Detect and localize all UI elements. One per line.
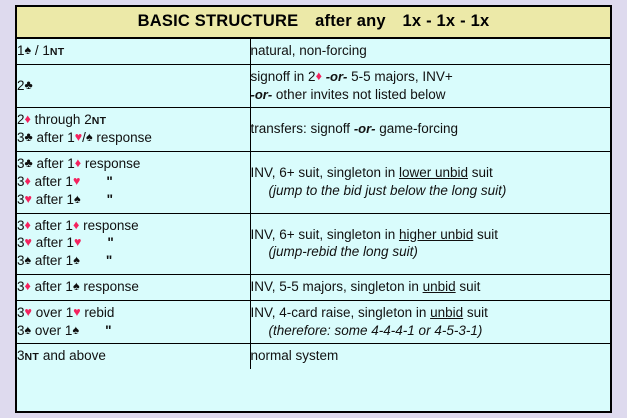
underlined-term: unbid (430, 305, 463, 320)
text-run: 3 (17, 218, 25, 233)
ditto-mark: " (80, 174, 112, 189)
heart-suit-icon: ♥ (25, 235, 32, 249)
bid-line: 3♥ after 1♠" (17, 191, 250, 209)
notrump-label: NT (92, 115, 107, 127)
text-run: 3 (17, 253, 25, 268)
underlined-term: lower unbid (399, 165, 468, 180)
meaning-cell: INV, 6+ suit, singleton in lower unbid s… (250, 152, 610, 213)
bid-line: 3♠ over 1♠" (17, 322, 250, 340)
text-run: 3 (17, 348, 25, 363)
meaning-cell: transfers: signoff -or- game-forcing (250, 108, 610, 152)
bid-line: 2♣ (17, 77, 250, 95)
meaning-line: normal system (251, 347, 611, 365)
bidding-chart: BASIC STRUCTURE after any 1x - 1x - 1x 1… (15, 5, 612, 413)
bid-line: 1♠ / 1NT (17, 42, 250, 60)
bid-cell: 3NT and above (17, 344, 250, 369)
text-run: 2 (17, 112, 25, 127)
bid-cell: 2♣ (17, 64, 250, 108)
text-run: response (93, 130, 152, 145)
table-row: 2♣signoff in 2♦ -or- 5-5 majors, INV+-or… (17, 64, 610, 108)
text-run: after 1 (31, 174, 73, 189)
table-row: 3♥ over 1♥ rebid3♠ over 1♠"INV, 4-card r… (17, 300, 610, 344)
meaning-line: INV, 5-5 majors, singleton in unbid suit (251, 278, 611, 296)
club-suit-icon: ♣ (25, 130, 33, 144)
meaning-line: -or- other invites not listed below (251, 86, 611, 104)
meaning-cell: signoff in 2♦ -or- 5-5 majors, INV+-or- … (250, 64, 610, 108)
text-run: 3 (17, 235, 25, 250)
ditto-mark: " (79, 323, 111, 338)
table-header-cell: BASIC STRUCTURE after any 1x - 1x - 1x (17, 7, 610, 38)
text-run: through 2 (31, 112, 92, 127)
or-connector: -or- (354, 121, 376, 136)
text-run: 2 (17, 78, 25, 93)
bid-cell: 3♦ after 1♦ response3♥ after 1♥"3♠ after… (17, 213, 250, 274)
club-suit-icon: ♣ (25, 78, 33, 92)
text-run: after 1 (31, 253, 73, 268)
meaning-cell: INV, 6+ suit, singleton in higher unbid … (250, 213, 610, 274)
meaning-line: transfers: signoff -or- game-forcing (251, 120, 611, 138)
parenthetical-note: (jump-rebid the long suit) (269, 244, 418, 259)
text-run: transfers: signoff (251, 121, 354, 136)
ditto-mark: " (80, 253, 112, 268)
text-run: after 1 (32, 235, 74, 250)
text-run: 5-5 majors, INV+ (347, 69, 452, 84)
text-run: INV, 6+ suit, singleton in (251, 227, 399, 242)
or-connector: -or- (251, 87, 273, 102)
heart-suit-icon: ♥ (25, 192, 32, 206)
bid-cell: 3♣ after 1♦ response3♦ after 1♥"3♥ after… (17, 152, 250, 213)
text-run: after 1 (31, 218, 73, 233)
bid-line: 3♣ after 1♥/♠ response (17, 129, 250, 147)
text-run: after 1 (33, 130, 75, 145)
ditto-mark: " (81, 192, 113, 207)
meaning-cell: natural, non-forcing (250, 38, 610, 64)
table-header-row: BASIC STRUCTURE after any 1x - 1x - 1x (17, 7, 610, 38)
text-run: over 1 (31, 323, 72, 338)
meaning-cell: INV, 4-card raise, singleton in unbid su… (250, 300, 610, 344)
meaning-line: (therefore: some 4-4-4-1 or 4-5-3-1) (251, 322, 611, 340)
meaning-line: signoff in 2♦ -or- 5-5 majors, INV+ (251, 68, 611, 86)
text-run: other invites not listed below (272, 87, 445, 102)
text-run: rebid (81, 305, 115, 320)
text-run: over 1 (32, 305, 73, 320)
meaning-cell: normal system (250, 344, 610, 369)
or-connector: -or- (326, 69, 348, 84)
table-row: 1♠ / 1NTnatural, non-forcing (17, 38, 610, 64)
ditto-mark: " (81, 235, 113, 250)
table-row: 3♦ after 1♦ response3♥ after 1♥"3♠ after… (17, 213, 610, 274)
meaning-line: INV, 4-card raise, singleton in unbid su… (251, 304, 611, 322)
bid-line: 3♥ after 1♥" (17, 234, 250, 252)
bid-cell: 3♥ over 1♥ rebid3♠ over 1♠" (17, 300, 250, 344)
spade-suit-icon: ♠ (74, 192, 81, 206)
spade-suit-icon: ♠ (73, 279, 80, 293)
bid-line: 3NT and above (17, 347, 250, 365)
table-row: 3♣ after 1♦ response3♦ after 1♥"3♥ after… (17, 152, 610, 213)
text-run: after 1 (33, 156, 75, 171)
text-run: INV, 5-5 majors, singleton in (251, 279, 423, 294)
table-row: 3NT and abovenormal system (17, 344, 610, 369)
text-run: INV, 4-card raise, singleton in (251, 305, 431, 320)
notrump-label: NT (25, 351, 40, 363)
text-run: response (81, 156, 140, 171)
text-run: suit (473, 227, 498, 242)
bid-line: 3♦ after 1♠ response (17, 278, 250, 296)
text-run: after 1 (31, 279, 73, 294)
bid-line: 3♣ after 1♦ response (17, 155, 250, 173)
heart-suit-icon: ♥ (73, 305, 80, 319)
text-run: INV, 6+ suit, singleton in (251, 165, 399, 180)
parenthetical-note: (therefore: some 4-4-4-1 or 4-5-3-1) (269, 323, 483, 338)
text-run: signoff in 2 (251, 69, 316, 84)
meaning-line: (jump to the bid just below the long sui… (251, 182, 611, 200)
text-run: 3 (17, 174, 25, 189)
text-run: natural, non-forcing (251, 43, 367, 58)
diamond-suit-icon: ♦ (316, 69, 322, 83)
header-title: BASIC STRUCTURE (138, 12, 299, 30)
parenthetical-note: (jump to the bid just below the long sui… (269, 183, 507, 198)
notrump-label: NT (50, 46, 65, 58)
meaning-line: INV, 6+ suit, singleton in lower unbid s… (251, 164, 611, 182)
text-run: suit (456, 279, 481, 294)
bid-line: 3♥ over 1♥ rebid (17, 304, 250, 322)
text-run: response (80, 279, 139, 294)
text-run: response (79, 218, 138, 233)
text-run: 1 (17, 43, 25, 58)
bid-cell: 1♠ / 1NT (17, 38, 250, 64)
meaning-cell: INV, 5-5 majors, singleton in unbid suit (250, 275, 610, 301)
text-run: after 1 (32, 192, 74, 207)
text-run: and above (39, 348, 106, 363)
bid-line: 3♠ after 1♠" (17, 252, 250, 270)
bidding-table: BASIC STRUCTURE after any 1x - 1x - 1x 1… (17, 7, 610, 369)
bid-line: 3♦ after 1♥" (17, 173, 250, 191)
header-sequence: 1x - 1x - 1x (403, 12, 490, 30)
spade-suit-icon: ♠ (86, 130, 93, 144)
text-run: 3 (17, 156, 25, 171)
club-suit-icon: ♣ (25, 156, 33, 170)
underlined-term: unbid (423, 279, 456, 294)
text-run: 3 (17, 279, 25, 294)
text-run: game-forcing (375, 121, 458, 136)
text-run: suit (463, 305, 488, 320)
header-subtitle: after any (315, 12, 386, 30)
text-run: / 1 (31, 43, 50, 58)
heart-suit-icon: ♥ (25, 305, 32, 319)
table-body: BASIC STRUCTURE after any 1x - 1x - 1x 1… (17, 7, 610, 369)
meaning-line: (jump-rebid the long suit) (251, 243, 611, 261)
spade-suit-icon: ♠ (73, 253, 80, 267)
text-run: suit (468, 165, 493, 180)
table-row: 2♦ through 2NT3♣ after 1♥/♠ responsetran… (17, 108, 610, 152)
table-row: 3♦ after 1♠ responseINV, 5-5 majors, sin… (17, 275, 610, 301)
bid-cell: 3♦ after 1♠ response (17, 275, 250, 301)
bid-line: 3♦ after 1♦ response (17, 217, 250, 235)
meaning-line: INV, 6+ suit, singleton in higher unbid … (251, 226, 611, 244)
underlined-term: higher unbid (399, 227, 473, 242)
meaning-line: natural, non-forcing (251, 42, 611, 60)
text-run: normal system (251, 348, 339, 363)
text-run: 3 (17, 305, 25, 320)
bid-line: 2♦ through 2NT (17, 111, 250, 129)
bid-cell: 2♦ through 2NT3♣ after 1♥/♠ response (17, 108, 250, 152)
text-run: 3 (17, 192, 25, 207)
text-run: 3 (17, 130, 25, 145)
text-run: 3 (17, 323, 25, 338)
